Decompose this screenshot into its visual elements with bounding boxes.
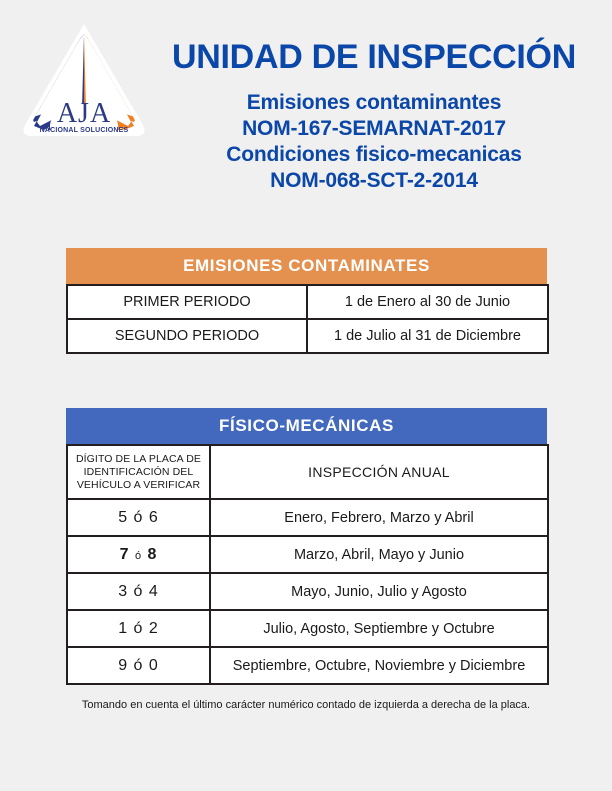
table-row: 3 ó 4 Mayo, Junio, Julio y Agosto — [67, 573, 548, 610]
fisico-digit-1: 5 ó 6 — [67, 499, 210, 536]
fisico-header-months: INSPECCIÓN ANUAL — [210, 445, 548, 499]
fisico-months-4: Julio, Agosto, Septiembre y Octubre — [210, 610, 548, 647]
subtitle-line-2: NOM-167-SEMARNAT-2017 — [146, 116, 602, 142]
emisiones-table: PRIMER PERIODO 1 de Enero al 30 de Junio… — [66, 284, 549, 354]
fisico-digit-4: 1 ó 2 — [67, 610, 210, 647]
fisico-digit-2-conj: ó — [135, 550, 142, 562]
subtitle-line-4: NOM-068-SCT-2-2014 — [146, 168, 602, 194]
fisico-digit-3: 3 ó 4 — [67, 573, 210, 610]
subtitle-line-1: Emisiones contaminantes — [146, 90, 602, 116]
subtitle-group: Emisiones contaminantes NOM-167-SEMARNAT… — [146, 90, 602, 194]
svg-text:AJA: AJA — [57, 98, 111, 129]
emisiones-period-2: SEGUNDO PERIODO — [67, 319, 307, 353]
title-block: UNIDAD DE INSPECCIÓN Emisiones contamina… — [146, 0, 602, 194]
table-row: 1 ó 2 Julio, Agosto, Septiembre y Octubr… — [67, 610, 548, 647]
fisico-months-2: Marzo, Abril, Mayo y Junio — [210, 536, 548, 573]
fisico-digit-2-b: 8 — [148, 546, 158, 563]
emisiones-range-1: 1 de Enero al 30 de Junio — [307, 285, 548, 319]
fisico-header-digit-line-1: DÍGITO DE LA PLACA DE — [76, 453, 201, 465]
table-header-row: DÍGITO DE LA PLACA DE IDENTIFICACIÓN DEL… — [67, 445, 548, 499]
fisico-header-digit-line-3: VEHÍCULO A VERIFICAR — [77, 479, 200, 491]
subtitle-line-3: Condiciones fisico-mecanicas — [146, 142, 602, 168]
aja-logo: AJA NACIONAL SOLUCIONES — [22, 22, 146, 140]
table-row: PRIMER PERIODO 1 de Enero al 30 de Junio — [67, 285, 548, 319]
footnote: Tomando en cuenta el último carácter num… — [0, 699, 612, 711]
table-row: SEGUNDO PERIODO 1 de Julio al 31 de Dici… — [67, 319, 548, 353]
fisico-months-1: Enero, Febrero, Marzo y Abril — [210, 499, 548, 536]
fisico-digit-2-a: 7 — [120, 546, 130, 563]
fisico-section: FÍSICO-MECÁNICAS DÍGITO DE LA PLACA DE I… — [66, 408, 547, 685]
fisico-band-title: FÍSICO-MECÁNICAS — [66, 408, 547, 444]
table-row: 5 ó 6 Enero, Febrero, Marzo y Abril — [67, 499, 548, 536]
fisico-header-digit: DÍGITO DE LA PLACA DE IDENTIFICACIÓN DEL… — [67, 445, 210, 499]
table-row: 9 ó 0 Septiembre, Octubre, Noviembre y D… — [67, 647, 548, 684]
fisico-digit-5: 9 ó 0 — [67, 647, 210, 684]
table-row: 7 ó 8 Marzo, Abril, Mayo y Junio — [67, 536, 548, 573]
emisiones-section: EMISIONES CONTAMINATES PRIMER PERIODO 1 … — [66, 248, 547, 354]
page-header: AJA NACIONAL SOLUCIONES UNIDAD DE INSPEC… — [0, 0, 612, 240]
fisico-months-5: Septiembre, Octubre, Noviembre y Diciemb… — [210, 647, 548, 684]
fisico-table: DÍGITO DE LA PLACA DE IDENTIFICACIÓN DEL… — [66, 444, 549, 685]
page-title: UNIDAD DE INSPECCIÓN — [146, 40, 602, 74]
svg-text:NACIONAL SOLUCIONES: NACIONAL SOLUCIONES — [40, 127, 129, 134]
fisico-header-digit-line-2: IDENTIFICACIÓN DEL — [84, 466, 194, 478]
emisiones-range-2: 1 de Julio al 31 de Diciembre — [307, 319, 548, 353]
fisico-digit-2: 7 ó 8 — [67, 536, 210, 573]
emisiones-period-1: PRIMER PERIODO — [67, 285, 307, 319]
fisico-months-3: Mayo, Junio, Julio y Agosto — [210, 573, 548, 610]
emisiones-band-title: EMISIONES CONTAMINATES — [66, 248, 547, 284]
